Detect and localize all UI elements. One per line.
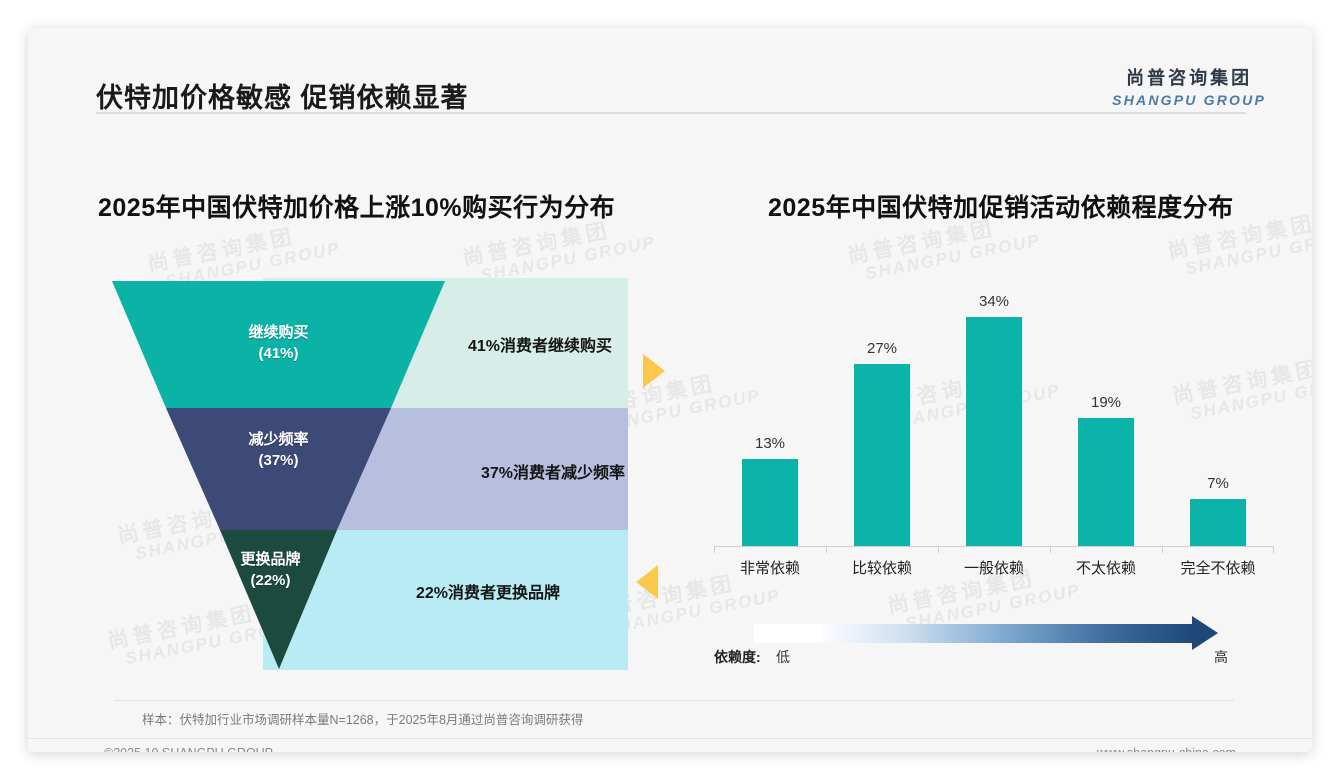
footer-divider [28,738,1312,739]
bar-value-label: 34% [979,293,1009,310]
footer-copyright: ©2025.10 SHANGPU GROUP [104,746,273,752]
right-chart-title: 2025年中国伏特加促销活动依赖程度分布 [768,188,1234,224]
bar-column[interactable]: 34% [938,276,1050,546]
legend-high-label: 高 [1214,647,1228,667]
bar-column[interactable]: 27% [826,276,938,546]
gradient-arrow-icon [1192,616,1218,650]
axis-tick [1162,546,1163,553]
slide-card: 尚普咨询集团 SHANGPU GROUP 尚普咨询集团 SHANGPU GROU… [28,28,1312,752]
funnel-annotation-2: 22%消费者更换品牌 [416,579,560,603]
left-chart-title: 2025年中国伏特加价格上涨10%购买行为分布 [98,188,615,224]
footer-website[interactable]: www.shangpu-china.com [1097,746,1236,752]
bar-rect [854,364,910,546]
bar-column[interactable]: 7% [1162,276,1274,546]
funnel-annotation-1: 37%消费者减少频率 [481,459,625,483]
marker-triangle-right-icon [643,354,665,388]
axis-tick [1050,546,1051,553]
bar-value-label: 7% [1207,475,1229,492]
axis-tick [1273,546,1274,553]
bar-rect [742,459,798,546]
axis-tick [938,546,939,553]
bar-category-label: 一般依赖 [938,557,1050,578]
company-logo: 尚普咨询集团 SHANGPU GROUP [1112,64,1266,108]
bar-value-label: 13% [755,435,785,452]
bar-axis-line [714,546,1274,547]
bar-rect [1190,499,1246,546]
funnel-segment-label-2: 更换品牌 (22%) [208,550,333,591]
funnel-label-value: (22%) [208,571,333,592]
funnel-label-name: 更换品牌 [208,550,333,571]
funnel-segment-label-1: 减少频率 (37%) [216,430,341,471]
bar-category-label: 非常依赖 [714,557,826,578]
funnel-segment-label-0: 继续购买 (41%) [216,323,341,364]
page-title: 伏特加价格敏感 促销依赖显著 [96,76,469,115]
logo-text-en: SHANGPU GROUP [1112,92,1266,108]
bar-column[interactable]: 13% [714,276,826,546]
bar-rect [966,317,1022,546]
bar-category-label: 不太依赖 [1050,557,1162,578]
bar-category-label: 完全不依赖 [1162,557,1274,578]
funnel-label-name: 继续购买 [216,323,341,344]
dependency-gradient-legend: 依赖度: 低 高 [714,614,1274,682]
gradient-bar [754,624,1194,643]
bar-plot-area: 13% 27% 34% 19% 7% [714,276,1274,546]
bar-rect [1078,418,1134,546]
axis-tick [714,546,715,553]
bar-value-label: 27% [867,340,897,357]
funnel-annotation-0: 41%消费者继续购买 [468,332,612,356]
axis-tick [826,546,827,553]
footnote-text: 样本：伏特加行业市场调研样本量N=1268，于2025年8月通过尚普咨询调研获得 [142,709,583,728]
watermark-cn: 尚普咨询集团 [146,218,339,276]
bar-category-label: 比较依赖 [826,557,938,578]
bar-value-label: 19% [1091,394,1121,411]
marker-triangle-left-icon [636,565,658,599]
watermark-en: SHANGPU GROUP [1170,227,1312,281]
legend-low-label: 低 [776,647,790,667]
funnel-label-value: (41%) [216,344,341,365]
funnel-chart: 继续购买 (41%) 减少频率 (37%) 更换品牌 (22%) 41%消费者继… [98,278,658,678]
bar-column[interactable]: 19% [1050,276,1162,546]
bar-chart: 13% 27% 34% 19% 7% [714,276,1274,576]
legend-caption: 依赖度: [714,647,761,667]
header-divider [96,112,1246,114]
funnel-label-name: 减少频率 [216,430,341,451]
slide-header: 伏特加价格敏感 促销依赖显著 尚普咨询集团 SHANGPU GROUP [28,28,1312,118]
logo-text-cn: 尚普咨询集团 [1112,64,1266,90]
funnel-label-value: (37%) [216,451,341,472]
footnote-divider [114,700,1234,701]
